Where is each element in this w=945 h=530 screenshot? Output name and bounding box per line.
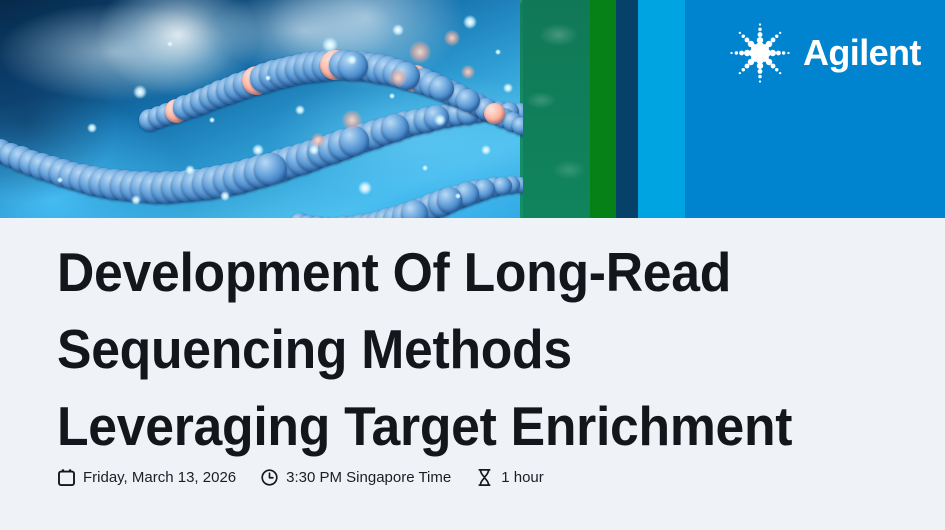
agilent-logo[interactable]: Agilent — [729, 22, 924, 84]
color-band-green — [590, 0, 616, 218]
color-band-cyan — [638, 0, 685, 218]
calendar-icon — [57, 468, 76, 487]
color-band-green-overlay — [520, 0, 590, 218]
event-meta: Friday, March 13, 2026 3:30 PM Singapore… — [57, 468, 544, 487]
agilent-wordmark: Agilent — [803, 35, 921, 71]
meta-item-time: 3:30 PM Singapore Time — [260, 468, 451, 487]
page-title: Development Of Long-Read Sequencing Meth… — [57, 234, 837, 465]
meta-item-date: Friday, March 13, 2026 — [57, 468, 236, 487]
agilent-starburst-icon — [729, 22, 791, 84]
meta-time-text: 3:30 PM Singapore Time — [286, 468, 451, 487]
meta-item-duration: 1 hour — [475, 468, 544, 487]
hourglass-icon — [475, 468, 494, 487]
meta-date-text: Friday, March 13, 2026 — [83, 468, 236, 487]
clock-icon — [260, 468, 279, 487]
content-area: Development Of Long-Read Sequencing Meth… — [0, 218, 945, 530]
dna-double-helix-image — [0, 0, 523, 218]
webinar-announcement-card: Agilent Development Of Long-Read Sequenc… — [0, 0, 945, 530]
banner: Agilent — [0, 0, 945, 218]
color-band-navy — [616, 0, 638, 218]
meta-duration-text: 1 hour — [501, 468, 544, 487]
dna-helix-strands — [0, 0, 523, 218]
